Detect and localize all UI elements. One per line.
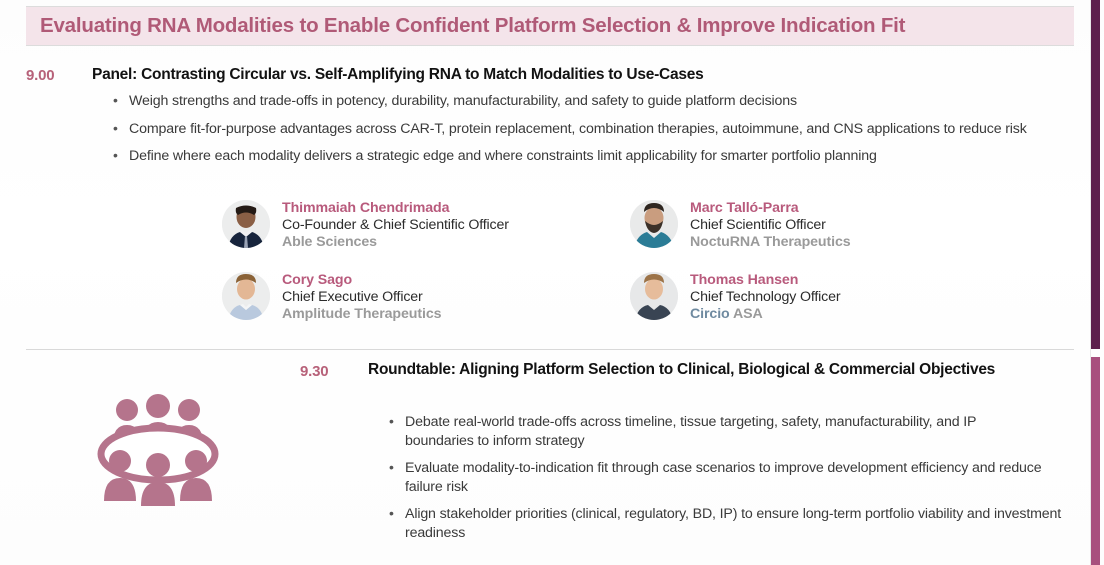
speaker-role: Chief Technology Officer [690,289,840,307]
speaker-card[interactable]: Marc Talló-Parra Chief Scientific Office… [630,200,851,251]
speaker-card[interactable]: Thimmaiah Chendrimada Co-Founder & Chief… [222,200,509,251]
avatar [630,200,678,248]
avatar-photo-thimmaiah [222,200,270,248]
speaker-card[interactable]: Cory Sago Chief Executive Officer Amplit… [222,272,441,323]
avatar [222,200,270,248]
speaker-org-accent: Circio [690,306,730,322]
bullet-item: Compare fit-for-purpose advantages acros… [110,120,1029,139]
agenda-page: Evaluating RNA Modalities to Enable Conf… [0,0,1104,565]
bullet-item: Debate real-world trade-offs across time… [386,413,995,450]
session-bullets-0: Weigh strengths and trade-offs in potenc… [110,92,1070,175]
session-title-0: Panel: Contrasting Circular vs. Self-Amp… [92,64,1072,86]
speaker-card[interactable]: Thomas Hansen Chief Technology Officer C… [630,272,840,323]
session-divider [26,349,1074,350]
speaker-org: Able Sciences [282,234,509,251]
speaker-name: Thomas Hansen [690,272,840,289]
roundtable-icon [88,388,228,506]
bullet-item: Align stakeholder priorities (clinical, … [386,505,1085,542]
speaker-info: Marc Talló-Parra Chief Scientific Office… [690,200,851,251]
speaker-name: Cory Sago [282,272,441,289]
bullet-item: Define where each modality delivers a st… [110,147,1070,166]
speaker-name: Marc Talló-Parra [690,200,851,217]
speaker-role: Chief Scientific Officer [690,217,851,235]
avatar [222,272,270,320]
session-title-1: Roundtable: Aligning Platform Selection … [368,359,1008,381]
session-bullets-1: Debate real-world trade-offs across time… [386,413,1076,551]
speaker-org: Amplitude Therapeutics [282,306,441,323]
speaker-role: Co-Founder & Chief Scientific Officer [282,217,509,235]
session-time-1: 9.30 [300,363,328,380]
right-edge-bar-bottom [1091,357,1100,565]
speaker-org: Circio ASA [690,306,840,323]
track-banner: Evaluating RNA Modalities to Enable Conf… [26,6,1074,46]
speaker-org: NoctuRNA Therapeutics [690,234,851,251]
avatar-photo-cory [222,272,270,320]
speaker-role: Chief Executive Officer [282,289,441,307]
avatar-photo-marc [630,200,678,248]
speaker-info: Cory Sago Chief Executive Officer Amplit… [282,272,441,323]
track-banner-title: Evaluating RNA Modalities to Enable Conf… [26,14,905,38]
avatar-photo-thomas [630,272,678,320]
bullet-item: Evaluate modality-to-indication fit thro… [386,459,1045,496]
speaker-info: Thomas Hansen Chief Technology Officer C… [690,272,840,323]
session-time-0: 9.00 [26,67,54,84]
speaker-info: Thimmaiah Chendrimada Co-Founder & Chief… [282,200,509,251]
right-edge-bar-top [1091,0,1100,349]
bullet-item: Weigh strengths and trade-offs in potenc… [110,92,1070,111]
speaker-org-suffix: ASA [733,306,763,322]
avatar [630,272,678,320]
speaker-name: Thimmaiah Chendrimada [282,200,509,217]
